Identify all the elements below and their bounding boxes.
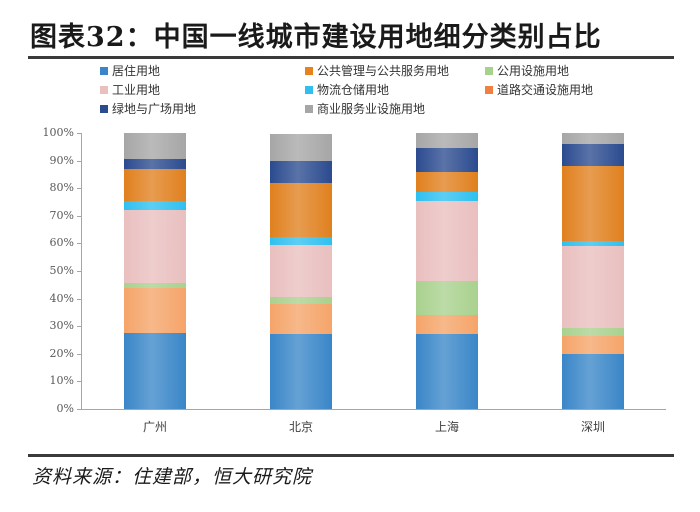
y-tick-mark (77, 409, 82, 410)
bar-segment-公共管理与公共服务用地[interactable] (562, 166, 624, 241)
bar-广州[interactable] (124, 133, 186, 409)
bar-segment-道路交通设施用地[interactable] (562, 336, 624, 354)
bar-segment-公共管理与公共服务用地[interactable] (124, 169, 186, 201)
bar-segment-居住用地[interactable] (562, 354, 624, 409)
bar-segment-绿地与广场用地[interactable] (124, 159, 186, 169)
bar-segment-居住用地[interactable] (270, 334, 332, 409)
y-tick-label: 50% (40, 265, 74, 276)
source-divider (28, 454, 674, 457)
bar-segment-商业服务业设施用地[interactable] (562, 133, 624, 144)
legend-label: 商业服务业设施用地 (317, 100, 425, 117)
y-tick-label: 70% (40, 210, 74, 221)
bar-segment-公用设施用地[interactable] (416, 281, 478, 316)
y-tick-label: 80% (40, 182, 74, 193)
page-title: 图表32：中国一线城市建设用地细分类别占比 (30, 16, 674, 52)
bar-segment-公用设施用地[interactable] (270, 297, 332, 304)
legend-item-4[interactable]: 物流仓储用地 (305, 81, 389, 98)
bar-segment-公共管理与公共服务用地[interactable] (416, 172, 478, 193)
legend-item-2[interactable]: 公用设施用地 (485, 62, 569, 79)
legend-label: 公共管理与公共服务用地 (317, 62, 449, 79)
bar-segment-工业用地[interactable] (416, 201, 478, 281)
bar-segment-工业用地[interactable] (562, 246, 624, 327)
y-tick-label: 20% (40, 348, 74, 359)
legend-item-3[interactable]: 工业用地 (100, 81, 160, 98)
bar-segment-商业服务业设施用地[interactable] (270, 134, 332, 160)
bar-segment-物流仓储用地[interactable] (562, 241, 624, 247)
legend-swatch-icon (305, 86, 313, 94)
bar-segment-工业用地[interactable] (124, 210, 186, 283)
legend-label: 公用设施用地 (497, 62, 569, 79)
bar-segment-物流仓储用地[interactable] (416, 192, 478, 200)
chart-legend: 居住用地公共管理与公共服务用地公用设施用地工业用地物流仓储用地道路交通设施用地绿… (100, 62, 620, 118)
legend-label: 道路交通设施用地 (497, 81, 593, 98)
y-tick-label: 100% (40, 127, 74, 138)
legend-swatch-icon (100, 105, 108, 113)
bar-segment-商业服务业设施用地[interactable] (124, 133, 186, 159)
bar-segment-商业服务业设施用地[interactable] (416, 133, 478, 148)
plot-area (82, 133, 666, 409)
legend-item-5[interactable]: 道路交通设施用地 (485, 81, 593, 98)
legend-label: 工业用地 (112, 81, 160, 98)
x-tick-label-广州: 广州 (110, 418, 200, 435)
bar-segment-居住用地[interactable] (124, 333, 186, 409)
bar-segment-绿地与广场用地[interactable] (562, 144, 624, 166)
title-divider (28, 56, 674, 59)
y-tick-label: 30% (40, 320, 74, 331)
bar-深圳[interactable] (562, 133, 624, 409)
bar-segment-居住用地[interactable] (416, 334, 478, 409)
legend-label: 物流仓储用地 (317, 81, 389, 98)
legend-label: 绿地与广场用地 (112, 100, 196, 117)
bar-segment-道路交通设施用地[interactable] (124, 288, 186, 334)
y-tick-label: 60% (40, 237, 74, 248)
legend-item-0[interactable]: 居住用地 (100, 62, 160, 79)
bar-上海[interactable] (416, 133, 478, 409)
bar-segment-道路交通设施用地[interactable] (270, 304, 332, 334)
legend-label: 居住用地 (112, 62, 160, 79)
x-tick-label-北京: 北京 (256, 418, 346, 435)
bar-北京[interactable] (270, 133, 332, 409)
source-note: 资料来源：住建部，恒大研究院 (32, 462, 312, 489)
y-tick-label: 40% (40, 293, 74, 304)
bar-segment-绿地与广场用地[interactable] (270, 161, 332, 183)
bar-segment-公用设施用地[interactable] (562, 328, 624, 336)
y-tick-label: 10% (40, 375, 74, 386)
bar-segment-公用设施用地[interactable] (124, 283, 186, 287)
bar-segment-绿地与广场用地[interactable] (416, 148, 478, 171)
chart-area: 0%10%20%30%40%50%60%70%80%90%100% 广州北京上海… (40, 126, 670, 426)
chart-page: 图表32：中国一线城市建设用地细分类别占比 居住用地公共管理与公共服务用地公用设… (0, 0, 700, 512)
legend-swatch-icon (100, 67, 108, 75)
legend-swatch-icon (305, 67, 313, 75)
legend-item-1[interactable]: 公共管理与公共服务用地 (305, 62, 449, 79)
y-tick-label: 0% (40, 403, 74, 414)
legend-item-7[interactable]: 商业服务业设施用地 (305, 100, 425, 117)
bar-segment-工业用地[interactable] (270, 245, 332, 297)
bar-segment-物流仓储用地[interactable] (124, 201, 186, 211)
legend-item-6[interactable]: 绿地与广场用地 (100, 100, 196, 117)
legend-swatch-icon (100, 86, 108, 94)
bar-segment-物流仓储用地[interactable] (270, 237, 332, 245)
y-tick-label: 90% (40, 155, 74, 166)
legend-swatch-icon (305, 105, 313, 113)
x-tick-label-深圳: 深圳 (548, 418, 638, 435)
legend-swatch-icon (485, 67, 493, 75)
bar-segment-公共管理与公共服务用地[interactable] (270, 183, 332, 237)
bar-segment-道路交通设施用地[interactable] (416, 315, 478, 334)
x-axis-line (81, 409, 666, 410)
x-tick-label-上海: 上海 (402, 418, 492, 435)
legend-swatch-icon (485, 86, 493, 94)
